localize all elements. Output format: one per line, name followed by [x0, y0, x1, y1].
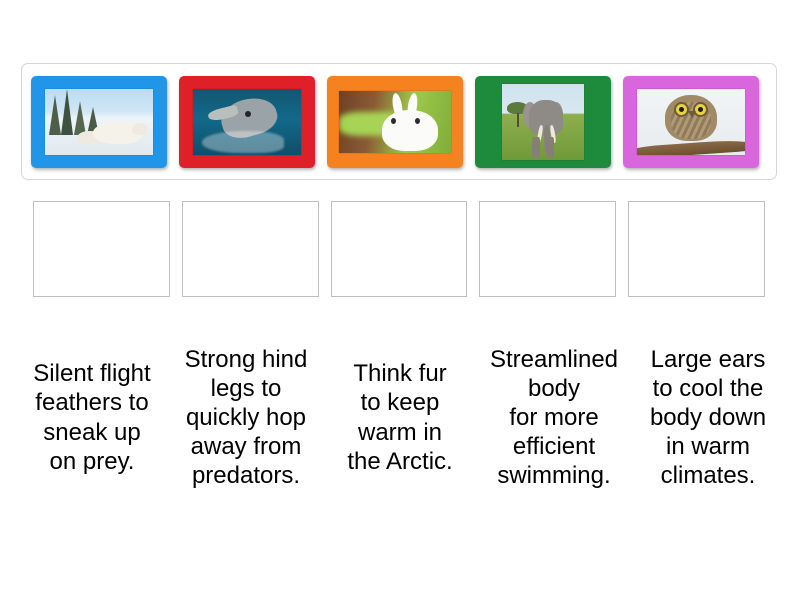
dropzone-row [33, 201, 765, 297]
draggable-card-owl[interactable] [623, 76, 759, 168]
answer-text-1: Silent flight feathers to sneak up on pr… [21, 330, 163, 505]
dolphin-photo [193, 89, 301, 155]
dropzone-1[interactable] [33, 201, 170, 297]
dropzone-3[interactable] [331, 201, 468, 297]
rabbit-photo [339, 91, 451, 153]
owl-photo [637, 89, 745, 155]
draggable-card-polar-bear[interactable] [31, 76, 167, 168]
dropzone-2[interactable] [182, 201, 319, 297]
dropzone-4[interactable] [479, 201, 616, 297]
answer-text-row: Silent flight feathers to sneak up on pr… [21, 330, 779, 505]
answer-text-3: Think fur to keep warm in the Arctic. [329, 330, 471, 505]
dropzone-5[interactable] [628, 201, 765, 297]
answer-text-2: Strong hind legs to quickly hop away fro… [175, 330, 317, 505]
image-card-tray [21, 63, 777, 180]
answer-text-5: Large ears to cool the body down in warm… [637, 330, 779, 505]
answer-text-4: Streamlined body for more efficient swim… [483, 330, 625, 505]
polar-bear-photo [45, 89, 153, 155]
elephant-photo [502, 84, 584, 160]
draggable-card-dolphin[interactable] [179, 76, 315, 168]
draggable-card-elephant[interactable] [475, 76, 611, 168]
draggable-card-rabbit[interactable] [327, 76, 463, 168]
